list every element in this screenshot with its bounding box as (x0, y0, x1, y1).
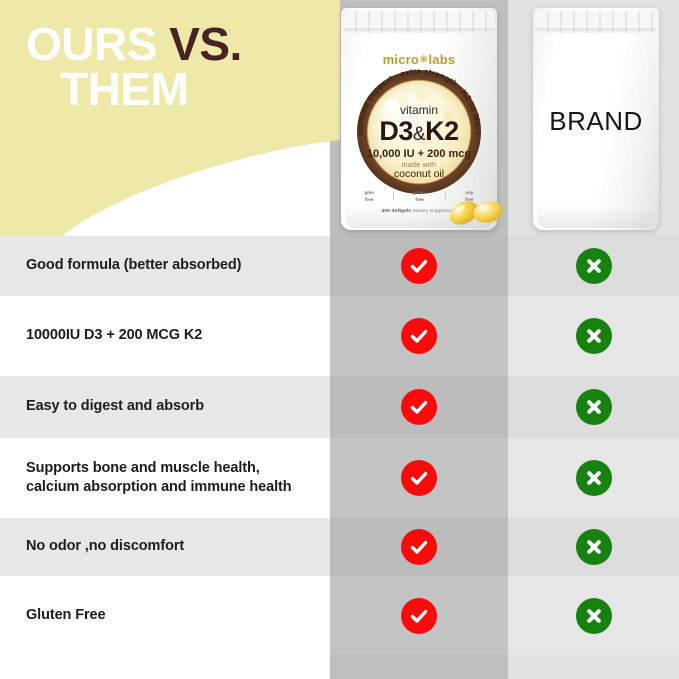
them-mark-cell (508, 438, 679, 518)
pouch-zipper (344, 11, 494, 33)
check-glyph (408, 396, 430, 418)
softgel-capsules-icon (440, 188, 510, 230)
ours-mark-cell (330, 438, 508, 518)
check-icon (401, 598, 437, 634)
feature-label: Good formula (better absorbed) (26, 256, 241, 275)
ours-mark-cell (330, 296, 508, 376)
check-glyph (408, 467, 430, 489)
ours-mark-cell (330, 576, 508, 655)
cross-glyph (583, 396, 605, 418)
feature-label: No odor ,no discomfort (26, 537, 184, 556)
comparison-table: Good formula (better absorbed) 10000IU D… (0, 236, 679, 655)
feature-label: Easy to digest and absorb (26, 397, 204, 416)
cross-icon (576, 598, 612, 634)
title-line-two: THEM (26, 67, 242, 112)
table-row: 10000IU D3 + 200 MCG K2 (0, 296, 679, 376)
table-row: Gluten Free (0, 576, 679, 655)
pouch-zipper (536, 11, 656, 33)
pouch-bottom-fold (537, 204, 655, 228)
ours-mark-cell (330, 518, 508, 576)
competitor-brand-label: BRAND (533, 106, 659, 137)
label-d3: D3 (379, 116, 413, 146)
them-mark-cell (508, 376, 679, 438)
cross-icon (576, 529, 612, 565)
label-ampersand: & (413, 124, 425, 145)
cross-icon (576, 460, 612, 496)
ours-mark-cell (330, 236, 508, 296)
check-glyph (408, 605, 430, 627)
title-word-them: THEM (60, 63, 188, 115)
feature-cell: Supports bone and muscle health, calcium… (0, 438, 330, 518)
feature-cell: 10000IU D3 + 200 MCG K2 (0, 296, 330, 376)
coconut-medallion: immune support · extra strength · K2 as … (357, 70, 481, 194)
cross-icon (576, 248, 612, 284)
label-main-title: D3&K2 (357, 116, 481, 147)
check-icon (401, 460, 437, 496)
title-line-one: OURS VS. (26, 22, 242, 67)
them-mark-cell (508, 236, 679, 296)
product-count: 300 Softgels (382, 209, 411, 214)
feature-label: Supports bone and muscle health, calcium… (26, 459, 304, 497)
label-coconut-oil: coconut oil (357, 168, 481, 180)
free-claim-separator (393, 191, 394, 200)
feature-label: 10000IU D3 + 200 MCG K2 (26, 326, 202, 345)
free-claim-gmo-line1: GMO (364, 190, 374, 197)
feature-cell: Gluten Free (0, 576, 330, 655)
feature-label: Gluten Free (26, 606, 105, 625)
cross-glyph (583, 605, 605, 627)
free-claim-gmo: GMO free (364, 190, 374, 204)
label-dose: 10,000 IU + 200 mcg (357, 148, 481, 160)
feature-cell: No odor ,no discomfort (0, 518, 330, 576)
cross-glyph (583, 325, 605, 347)
them-mark-cell (508, 296, 679, 376)
page-title: OURS VS. THEM (26, 22, 242, 111)
cross-glyph (583, 536, 605, 558)
them-mark-cell (508, 576, 679, 655)
comparison-infographic: OURS VS. THEM micro✳labs (0, 0, 679, 679)
check-glyph (408, 536, 430, 558)
free-claim-gluten-line2: free (413, 197, 427, 204)
free-claim-gluten-line1: gluten (413, 190, 427, 197)
check-icon (401, 389, 437, 425)
label-k2: K2 (425, 116, 459, 146)
check-glyph (408, 255, 430, 277)
ours-mark-cell (330, 376, 508, 438)
check-glyph (408, 325, 430, 347)
feature-cell: Easy to digest and absorb (0, 376, 330, 438)
table-row: Good formula (better absorbed) (0, 236, 679, 296)
table-row: No odor ,no discomfort (0, 518, 679, 576)
check-icon (401, 318, 437, 354)
cross-icon (576, 318, 612, 354)
table-row: Supports bone and muscle health, calcium… (0, 438, 679, 518)
check-icon (401, 529, 437, 565)
cross-glyph (583, 467, 605, 489)
them-mark-cell (508, 518, 679, 576)
label-vitamin: vitamin (357, 103, 481, 117)
product-pouch-them: BRAND (533, 8, 659, 230)
check-icon (401, 248, 437, 284)
free-claim-gluten: gluten free (413, 190, 427, 204)
cross-icon (576, 389, 612, 425)
feature-cell: Good formula (better absorbed) (0, 236, 330, 296)
table-row: Easy to digest and absorb (0, 376, 679, 438)
free-claim-gmo-line2: free (364, 197, 374, 204)
cross-glyph (583, 255, 605, 277)
